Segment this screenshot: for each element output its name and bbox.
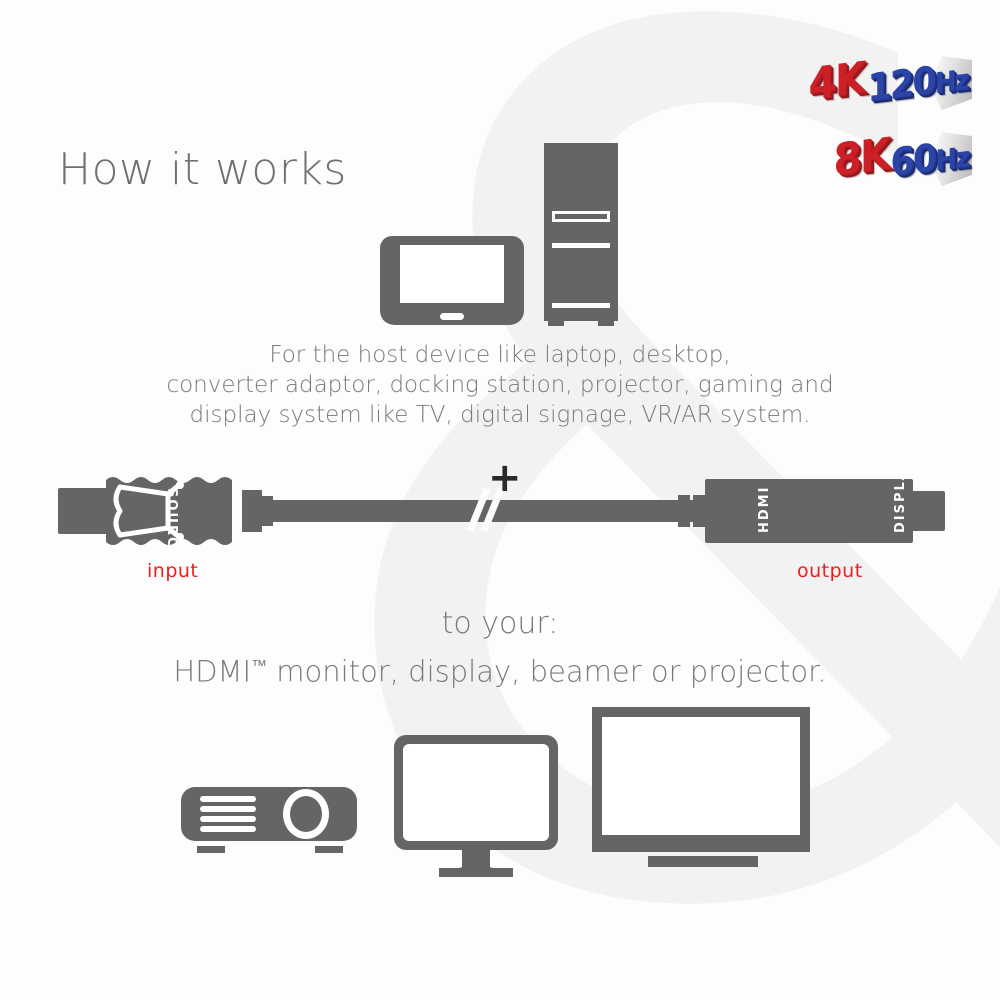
projector-icon (181, 787, 357, 853)
resolution-badge-group: 4K 120Hz 8K 60Hz (806, 52, 972, 204)
input-label: input (147, 560, 198, 582)
source-connector-label: SOURCE (164, 488, 179, 559)
badge-resolution-label: 8K (833, 132, 891, 183)
display-connector-label: DISPLAY (893, 458, 908, 533)
output-label: output (797, 560, 863, 582)
infographic-canvas: & How it works 4K 120Hz 8K 60Hz (0, 0, 1000, 1000)
plus-symbol: + (488, 458, 522, 498)
tv-icon (592, 707, 810, 867)
badge-4k-120hz: 4K 120Hz (806, 52, 972, 112)
badge-8k-60hz: 8K 60Hz (806, 128, 972, 188)
hdmi-connector-label: HDMI (757, 486, 772, 533)
monitor-icon (394, 735, 558, 877)
badge-resolution-label: 4K (809, 56, 867, 107)
hdmi-cable-diagram: + SOURCE HDMI DISPLAY input output (0, 455, 1000, 590)
